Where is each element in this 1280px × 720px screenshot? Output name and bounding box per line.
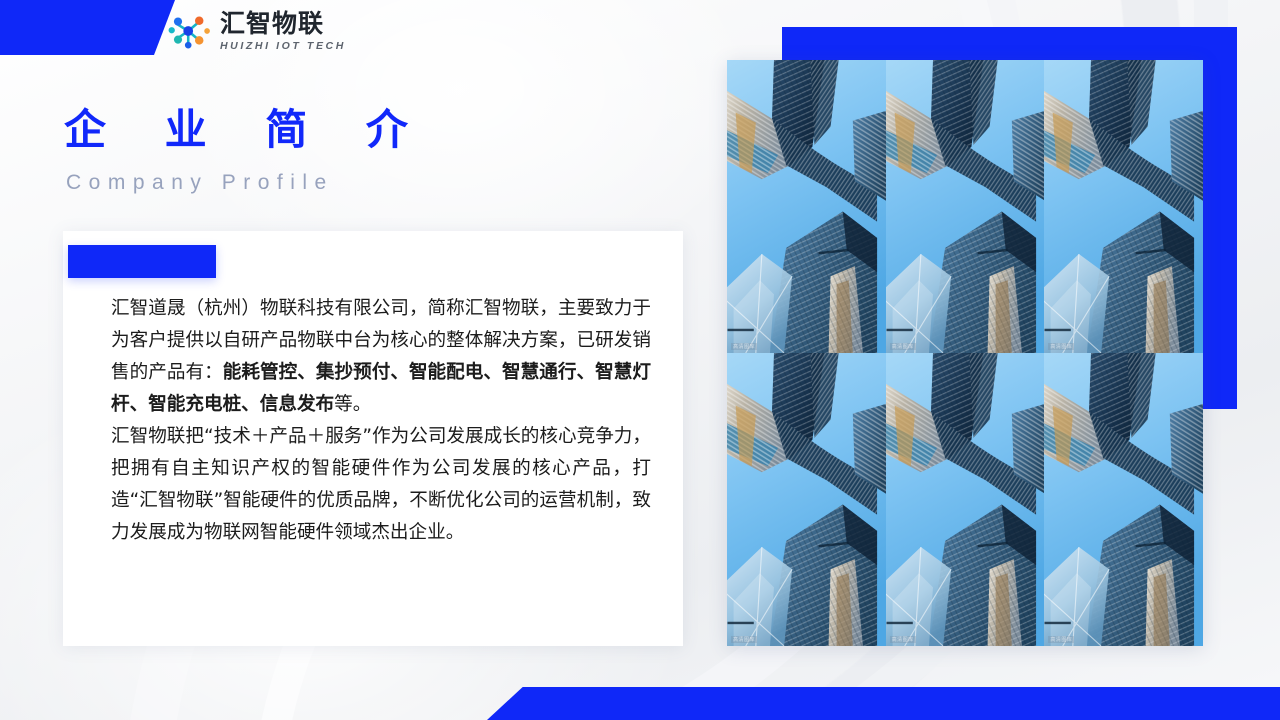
photo-watermark: 高清图库 (731, 636, 757, 643)
photo-collage: 高清图库 (727, 60, 1203, 646)
body-text-run: 汇智物联把“技术＋产品＋服务”作为公司发展成长的核心竞争力，把拥有自主知识产权的… (111, 426, 651, 543)
body-text-run: 等。 (334, 394, 371, 415)
paragraph-2: 汇智物联把“技术＋产品＋服务”作为公司发展成长的核心竞争力，把拥有自主知识产权的… (111, 421, 651, 549)
company-logo: 汇智物联 HUIZHI IOT TECH (167, 11, 346, 52)
molecule-network-icon (167, 11, 211, 51)
logo-company-cn: 汇智物联 (220, 11, 346, 36)
decor-bottom-blue-shape (487, 687, 1280, 720)
page-title: 企 业 简 介 (64, 96, 430, 157)
photo-watermark: 高清图库 (731, 343, 757, 350)
page-subtitle: Company Profile (66, 171, 334, 195)
photo-5: 高清图库 (886, 353, 1045, 646)
profile-text-card: 汇智道晟（杭州）物联科技有限公司，简称汇智物联，主要致力于为客户提供以自研产品物… (63, 231, 683, 646)
card-accent-tab (68, 245, 216, 278)
slide-root: 汇智物联 HUIZHI IOT TECH 企 业 简 介 Company Pro… (0, 0, 1280, 720)
photo-watermark: 高清图库 (1048, 343, 1074, 350)
photo-watermark: 高清图库 (890, 343, 916, 350)
photo-watermark: 高清图库 (1048, 636, 1074, 643)
photo-3: 高清图库 (1044, 60, 1203, 353)
logo-wordmark: 汇智物联 HUIZHI IOT TECH (220, 11, 346, 52)
paragraph-1: 汇智道晟（杭州）物联科技有限公司，简称汇智物联，主要致力于为客户提供以自研产品物… (111, 293, 651, 421)
photo-watermark: 高清图库 (890, 636, 916, 643)
photo-1: 高清图库 (727, 60, 886, 353)
photo-4: 高清图库 (727, 353, 886, 646)
photo-6: 高清图库 (1044, 353, 1203, 646)
logo-company-en: HUIZHI IOT TECH (220, 41, 346, 52)
photo-2: 高清图库 (886, 60, 1045, 353)
profile-text-body: 汇智道晟（杭州）物联科技有限公司，简称汇智物联，主要致力于为客户提供以自研产品物… (111, 293, 651, 549)
decor-top-left-blue-shape (0, 0, 175, 55)
